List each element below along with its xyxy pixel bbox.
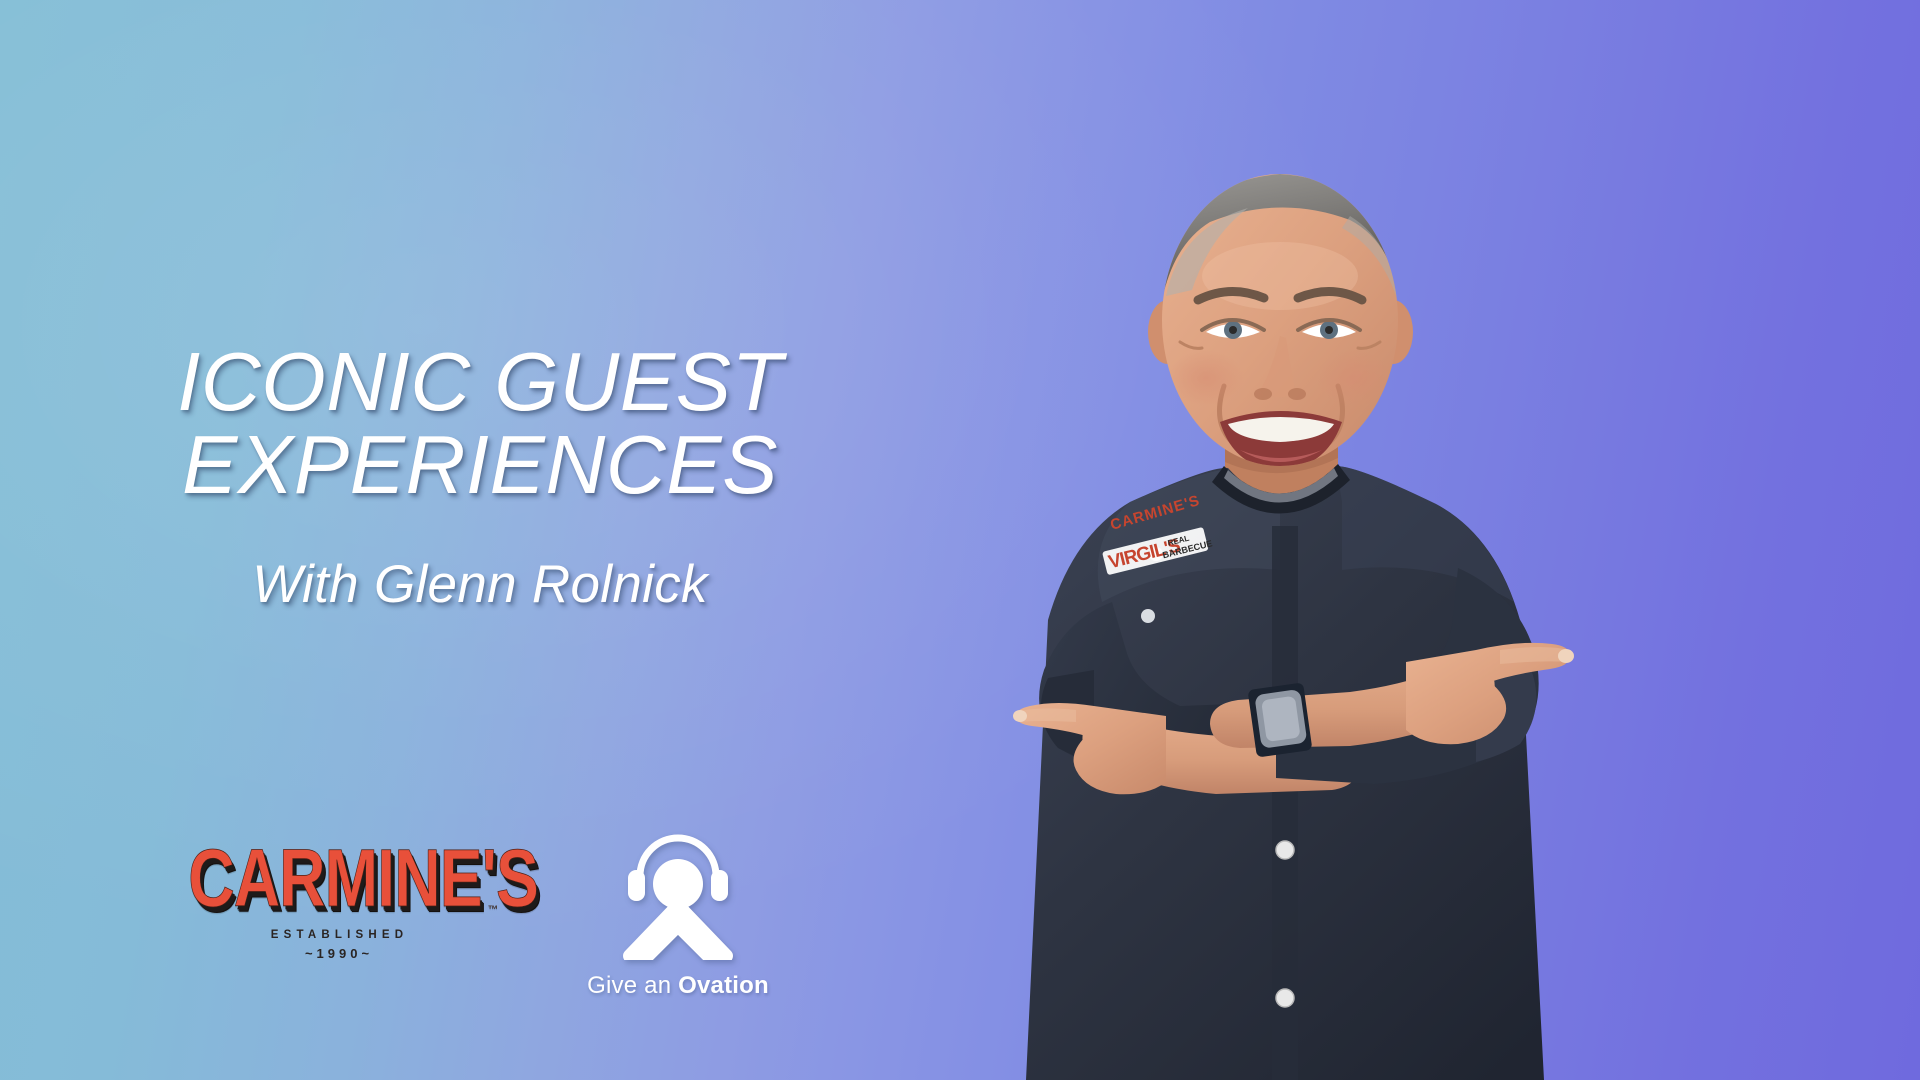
carmines-established-label: ESTABLISHED xyxy=(182,929,492,941)
title-card: CARMINE'S VIRGIL'S REAL BARBECUE xyxy=(0,0,1920,1080)
smartwatch xyxy=(1248,682,1313,757)
ovation-logo: Give an Ovation xyxy=(578,830,778,1000)
ovation-prefix: Give an xyxy=(587,972,671,999)
headline-line-1: ICONIC GUEST xyxy=(177,335,782,428)
page-subtitle: With Glenn Rolnick xyxy=(0,558,960,611)
logo-row: CARMINE'S™ ESTABLISHED ~1990~ xyxy=(0,830,960,1000)
page-title: ICONIC GUEST EXPERIENCES xyxy=(100,340,860,506)
chef-photo: CARMINE'S VIRGIL'S REAL BARBECUE xyxy=(880,150,1640,1080)
headline-line-2: EXPERIENCES xyxy=(100,423,860,506)
ovation-wordmark: Give an Ovation xyxy=(578,972,778,1000)
carmines-established-year: ~1990~ xyxy=(182,946,492,961)
ovation-brand: Ovation xyxy=(678,972,769,999)
carmines-wordmark: CARMINE'S™ xyxy=(188,838,486,920)
carmines-wordmark-text: CARMINE'S xyxy=(188,833,538,925)
hero-text-block: ICONIC GUEST EXPERIENCES With Glenn Roln… xyxy=(0,340,960,611)
headphone-person-icon xyxy=(608,830,748,960)
trademark-symbol: ™ xyxy=(488,905,498,916)
carmines-logo: CARMINE'S™ ESTABLISHED ~1990~ xyxy=(182,848,492,968)
